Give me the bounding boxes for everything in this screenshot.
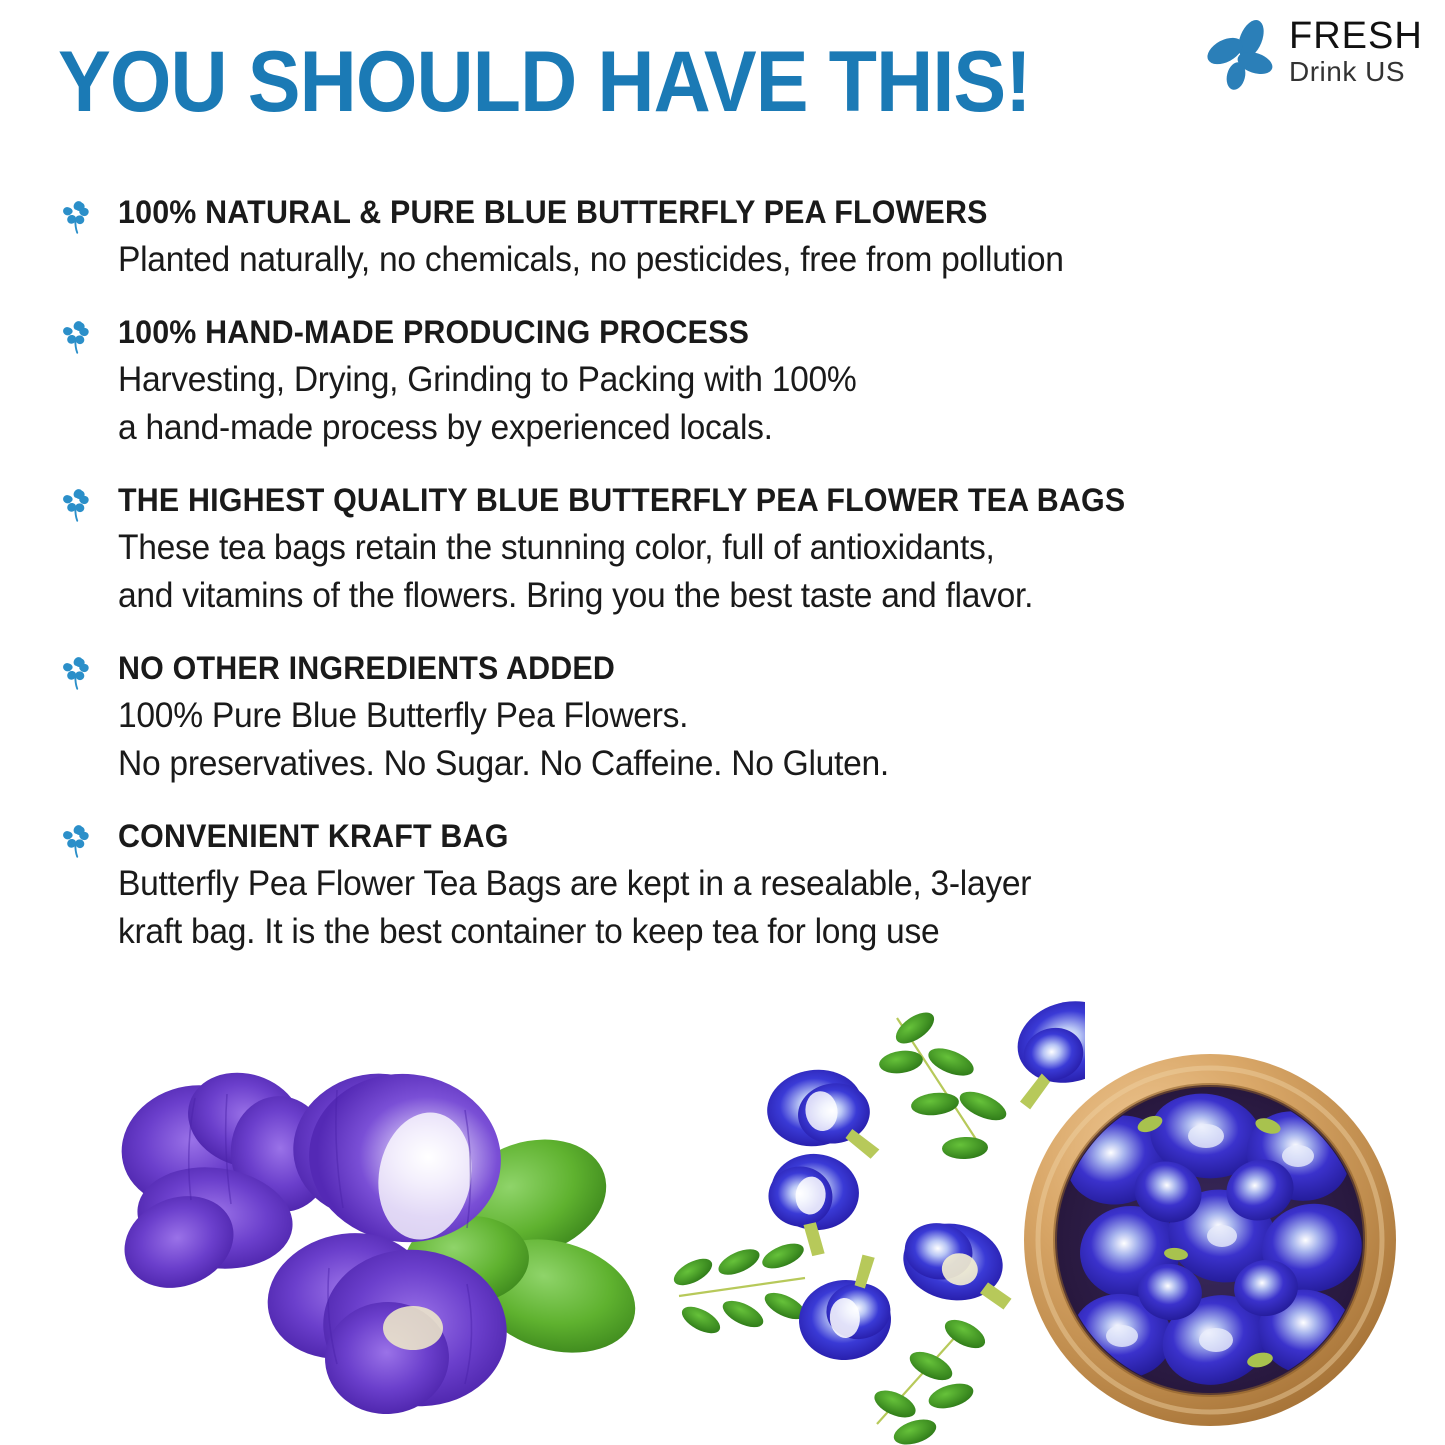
brand-logo: FRESH Drink US: [1205, 16, 1421, 94]
page-title: YOU SHOULD HAVE THIS!: [58, 36, 1031, 128]
brand-wordmark: FRESH Drink US: [1289, 16, 1419, 88]
butterfly-pea-flower-cluster-photo: [75, 1028, 665, 1438]
feature-item-4: NO OTHER INGREDIENTS ADDED 100% Pure Blu…: [0, 646, 1445, 788]
header: YOU SHOULD HAVE THIS! FRESH Drink US: [0, 0, 1445, 160]
feature-description: Butterfly Pea Flower Tea Bags are kept i…: [118, 860, 1445, 956]
leaf-cluster-logo-icon: [1205, 20, 1279, 92]
feature-description: 100% Pure Blue Butterfly Pea Flowers.No …: [118, 692, 1445, 788]
wooden-bowl-of-dried-flowers-photo: [1010, 1040, 1410, 1445]
clover-bullet-icon: [59, 198, 93, 234]
feature-title: 100% NATURAL & PURE BLUE BUTTERFLY PEA F…: [118, 190, 1379, 234]
feature-description-line: 100% Pure Blue Butterfly Pea Flowers.: [118, 692, 1392, 740]
feature-description-line: a hand-made process by experienced local…: [118, 404, 1392, 452]
feature-title: CONVENIENT KRAFT BAG: [118, 814, 1379, 858]
brand-name-primary: FRESH: [1289, 16, 1419, 56]
feature-description-line: kraft bag. It is the best container to k…: [118, 908, 1392, 956]
feature-description-line: and vitamins of the flowers. Bring you t…: [118, 572, 1392, 620]
feature-item-1: 100% NATURAL & PURE BLUE BUTTERFLY PEA F…: [0, 190, 1445, 284]
feature-item-5: CONVENIENT KRAFT BAG Butterfly Pea Flowe…: [0, 814, 1445, 956]
feature-description: Harvesting, Drying, Grinding to Packing …: [118, 356, 1445, 452]
clover-bullet-icon: [59, 318, 93, 354]
feature-description: These tea bags retain the stunning color…: [118, 524, 1445, 620]
product-feature-infographic: YOU SHOULD HAVE THIS! FRESH Drink US: [0, 0, 1445, 1445]
feature-description-line: Butterfly Pea Flower Tea Bags are kept i…: [118, 860, 1392, 908]
feature-title: THE HIGHEST QUALITY BLUE BUTTERFLY PEA F…: [118, 478, 1379, 522]
clover-bullet-icon: [59, 822, 93, 858]
feature-title: 100% HAND-MADE PRODUCING PROCESS: [118, 310, 1379, 354]
feature-description-line: Harvesting, Drying, Grinding to Packing …: [118, 356, 1392, 404]
feature-description: Planted naturally, no chemicals, no pest…: [118, 236, 1445, 284]
feature-item-3: THE HIGHEST QUALITY BLUE BUTTERFLY PEA F…: [0, 478, 1445, 620]
product-photo-strip: [0, 1000, 1445, 1445]
feature-title: NO OTHER INGREDIENTS ADDED: [118, 646, 1379, 690]
clover-bullet-icon: [59, 654, 93, 690]
clover-bullet-icon: [59, 486, 93, 522]
feature-description-line: Planted naturally, no chemicals, no pest…: [118, 236, 1392, 284]
feature-list: 100% NATURAL & PURE BLUE BUTTERFLY PEA F…: [0, 190, 1445, 982]
feature-description-line: No preservatives. No Sugar. No Caffeine.…: [118, 740, 1392, 788]
feature-description-line: These tea bags retain the stunning color…: [118, 524, 1392, 572]
brand-name-secondary: Drink US: [1289, 56, 1419, 88]
feature-item-2: 100% HAND-MADE PRODUCING PROCESS Harvest…: [0, 310, 1445, 452]
